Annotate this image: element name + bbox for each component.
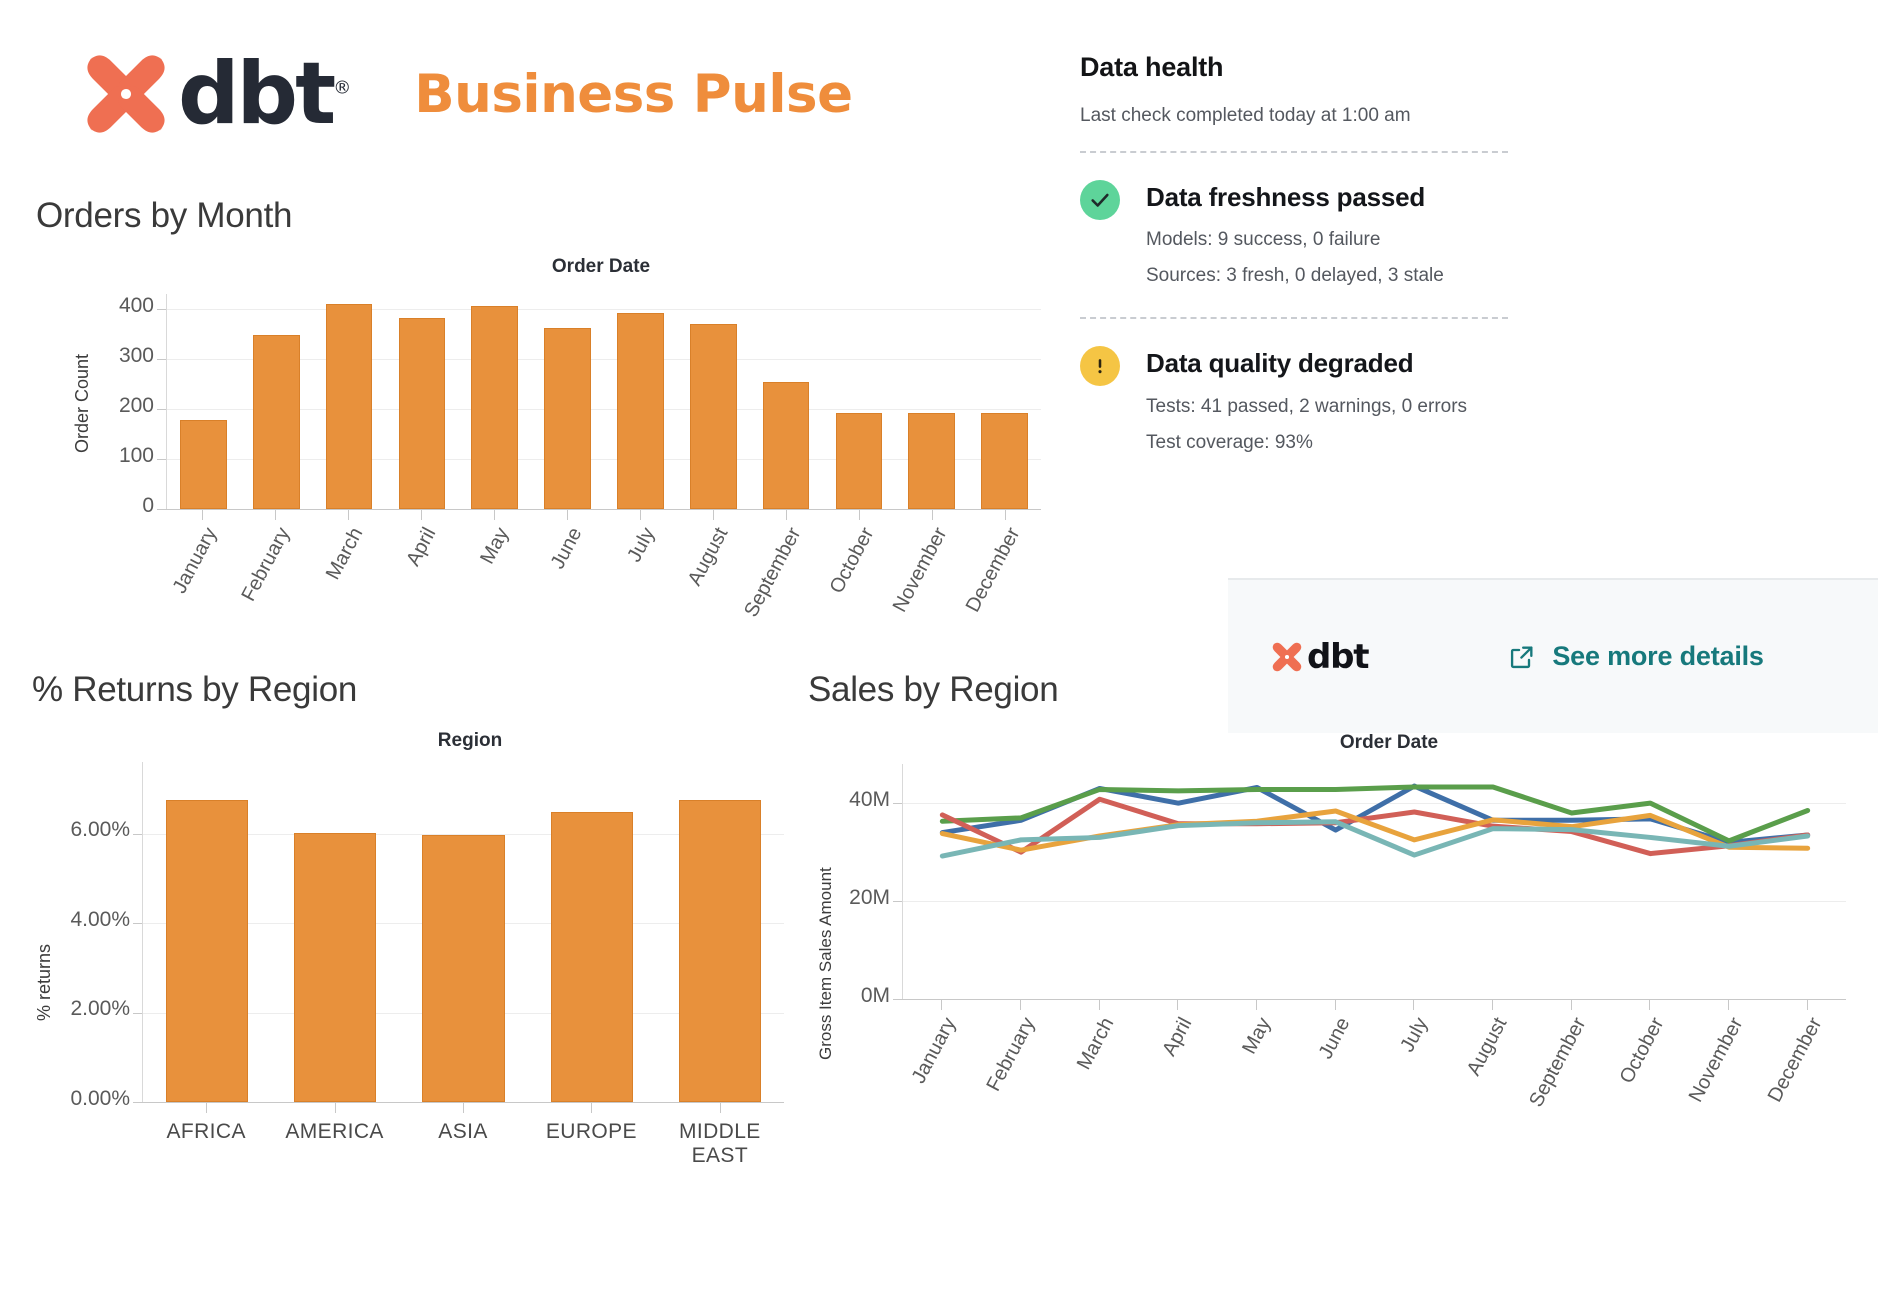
- bar[interactable]: [166, 800, 248, 1102]
- x-tick: December: [968, 510, 1041, 640]
- x-tick: April: [385, 510, 458, 640]
- x-tick-mark: [1256, 1000, 1257, 1010]
- dbt-logo-small: dbt: [1270, 637, 1368, 677]
- data-health-title: Data health: [1080, 52, 1860, 83]
- x-tick-label: March: [1073, 1014, 1119, 1074]
- x-tick-mark: [932, 510, 933, 520]
- bar[interactable]: [326, 304, 373, 509]
- health-detail-line: Sources: 3 fresh, 0 delayed, 3 stale: [1146, 265, 1860, 287]
- bar-slot: [385, 294, 458, 509]
- x-tick-label: February: [238, 524, 296, 605]
- bar-slot: [143, 762, 271, 1102]
- bar[interactable]: [679, 800, 761, 1102]
- x-tick: March: [312, 510, 385, 640]
- bar[interactable]: [981, 413, 1028, 510]
- y-tick-label: 400: [86, 294, 154, 318]
- x-tick-mark: [421, 510, 422, 520]
- see-more-details-label: See more details: [1552, 641, 1763, 672]
- x-tick-mark: [275, 510, 276, 520]
- x-tick-label: September: [1525, 1014, 1591, 1111]
- y-tick-label: 40M: [830, 788, 890, 812]
- x-tick-mark: [859, 510, 860, 520]
- bar-slot: [531, 294, 604, 509]
- x-tick-mark: [1649, 1000, 1650, 1010]
- x-tick-mark: [720, 1103, 721, 1113]
- sales-by-region-panel: Sales by Region Order Date Gross Item Sa…: [800, 660, 1878, 1312]
- x-tick-mark: [1020, 1000, 1021, 1010]
- x-tick: June: [531, 510, 604, 640]
- bar-slot: [604, 294, 677, 509]
- x-tick-mark: [494, 510, 495, 520]
- y-tick-mark: [133, 1013, 142, 1014]
- x-tick-label: November: [1685, 1014, 1749, 1106]
- x-tick-label: December: [961, 524, 1025, 616]
- bar-slot: [240, 294, 313, 509]
- returns-chart-header: Region: [140, 730, 800, 752]
- x-tick-label: March: [322, 524, 368, 584]
- bar[interactable]: [836, 413, 883, 510]
- bar-slot: [822, 294, 895, 509]
- y-tick-label: 20M: [830, 886, 890, 910]
- bar-slot: [167, 294, 240, 509]
- dbt-wordmark: dbt®: [178, 51, 348, 137]
- orders-panel-title: Orders by Month: [36, 196, 292, 236]
- y-tick-label: 2.00%: [38, 997, 130, 1021]
- bar-slot: [528, 762, 656, 1102]
- line-series-america[interactable]: [942, 787, 1807, 841]
- y-tick-mark: [157, 459, 166, 460]
- sales-plot-area: [902, 764, 1846, 999]
- x-tick-label: July: [623, 524, 660, 566]
- x-tick-label: MIDDLE EAST: [656, 1120, 784, 1168]
- see-more-details-link[interactable]: See more details: [1508, 641, 1763, 672]
- bar[interactable]: [180, 420, 227, 509]
- y-tick-mark: [157, 409, 166, 410]
- x-tick-label: November: [888, 524, 952, 616]
- y-tick-mark: [893, 803, 902, 804]
- x-tick-mark: [202, 510, 203, 520]
- x-tick: August: [1453, 1000, 1532, 1130]
- x-tick-label: May: [476, 524, 514, 568]
- y-tick-label: 4.00%: [38, 908, 130, 932]
- sales-chart-header: Order Date: [900, 732, 1878, 754]
- x-tick-label: September: [740, 524, 806, 621]
- bar-slot: [656, 762, 784, 1102]
- bar-slot: [750, 294, 823, 509]
- x-tick: September: [749, 510, 822, 640]
- health-item-freshness: Data freshness passed Models: 9 success,…: [1080, 179, 1860, 287]
- returns-x-tickmarks: [142, 1103, 784, 1115]
- bar[interactable]: [422, 835, 504, 1102]
- x-tick-mark: [1728, 1000, 1729, 1010]
- x-tick: April: [1138, 1000, 1217, 1130]
- divider: [1080, 151, 1508, 153]
- data-health-subtitle: Last check completed today at 1:00 am: [1080, 105, 1860, 127]
- dbt-logo: dbt®: [80, 48, 348, 140]
- bar[interactable]: [551, 812, 633, 1102]
- x-tick: July: [604, 510, 677, 640]
- page-header: dbt® Business Pulse: [80, 38, 1060, 150]
- orders-x-tick-labels: JanuaryFebruaryMarchAprilMayJuneJulyAugu…: [166, 510, 1041, 640]
- returns-bar-group: [143, 762, 784, 1102]
- x-tick: [142, 1103, 270, 1115]
- dbt-logo-icon: [1270, 640, 1304, 674]
- x-tick-mark: [206, 1103, 207, 1113]
- y-tick-label: 0.00%: [38, 1087, 130, 1111]
- health-detail-line: Models: 9 success, 0 failure: [1146, 229, 1860, 251]
- y-tick-label: 300: [86, 344, 154, 368]
- x-tick: June: [1295, 1000, 1374, 1130]
- x-tick-mark: [1099, 1000, 1100, 1010]
- dbt-wordmark-small: dbt: [1307, 637, 1368, 677]
- warning-circle-icon: [1080, 346, 1120, 386]
- x-tick-label: EUROPE: [527, 1120, 655, 1168]
- x-tick-label: June: [1314, 1014, 1355, 1063]
- x-tick-label: ASIA: [399, 1120, 527, 1168]
- x-tick-label: April: [402, 524, 441, 570]
- x-tick: February: [239, 510, 312, 640]
- returns-by-region-panel: % Returns by Region Region % returns 0.0…: [20, 662, 820, 1302]
- x-tick-mark: [941, 1000, 942, 1010]
- bar[interactable]: [617, 313, 664, 509]
- x-tick-label: January: [169, 524, 223, 598]
- x-tick-label: October: [825, 524, 879, 598]
- bar[interactable]: [908, 413, 955, 510]
- bar-slot: [399, 762, 527, 1102]
- registered-mark: ®: [333, 77, 348, 98]
- bar[interactable]: [471, 306, 518, 510]
- orders-plot-area: [166, 294, 1041, 509]
- y-tick-mark: [157, 309, 166, 310]
- x-tick-label: AFRICA: [142, 1120, 270, 1168]
- x-tick-mark: [713, 510, 714, 520]
- x-tick: October: [822, 510, 895, 640]
- health-detail-line: Tests: 41 passed, 2 warnings, 0 errors: [1146, 396, 1860, 418]
- x-tick-mark: [335, 1103, 336, 1113]
- x-tick: May: [458, 510, 531, 640]
- health-detail-line: Test coverage: 93%: [1146, 432, 1860, 454]
- bar[interactable]: [763, 382, 810, 509]
- x-tick-label: April: [1159, 1014, 1198, 1060]
- x-tick: November: [895, 510, 968, 640]
- returns-panel-title: % Returns by Region: [32, 670, 357, 710]
- x-tick-label: January: [908, 1014, 962, 1088]
- y-tick-label: 0: [86, 494, 154, 518]
- health-heading: Data quality degraded: [1146, 345, 1860, 381]
- returns-chart: % returns 0.00%2.00%4.00%6.00% AFRICAAME…: [20, 762, 820, 1242]
- x-tick-mark: [1807, 1000, 1808, 1010]
- y-tick-mark: [133, 834, 142, 835]
- returns-y-axis-title: % returns: [34, 912, 55, 1052]
- see-more-details-card: dbt See more details: [1228, 578, 1878, 733]
- x-tick-mark: [640, 510, 641, 520]
- x-tick-label: May: [1238, 1014, 1276, 1058]
- x-tick-label: February: [982, 1014, 1040, 1095]
- data-health-panel: Data health Last check completed today a…: [1080, 52, 1860, 472]
- orders-bar-group: [167, 294, 1041, 509]
- x-tick: July: [1374, 1000, 1453, 1130]
- x-tick-mark: [1492, 1000, 1493, 1010]
- dbt-logo-icon: [80, 48, 172, 140]
- y-tick-mark: [157, 359, 166, 360]
- y-tick-mark: [157, 509, 166, 510]
- x-tick: May: [1217, 1000, 1296, 1130]
- health-item-quality: Data quality degraded Tests: 41 passed, …: [1080, 345, 1860, 453]
- x-tick-mark: [1005, 510, 1006, 520]
- bar-slot: [271, 762, 399, 1102]
- x-tick-mark: [1335, 1000, 1336, 1010]
- x-tick-label: July: [1397, 1014, 1434, 1056]
- x-tick-mark: [1177, 1000, 1178, 1010]
- check-circle-icon: [1080, 180, 1120, 220]
- x-tick-label: August: [684, 524, 734, 590]
- x-tick: December: [1767, 1000, 1846, 1130]
- page-title: Business Pulse: [414, 64, 852, 125]
- bar-slot: [313, 294, 386, 509]
- health-heading: Data freshness passed: [1146, 179, 1860, 215]
- bar[interactable]: [253, 335, 300, 509]
- x-tick: January: [902, 1000, 981, 1130]
- y-tick-mark: [133, 923, 142, 924]
- x-tick-mark: [786, 510, 787, 520]
- bar[interactable]: [544, 328, 591, 509]
- bar-slot: [677, 294, 750, 509]
- x-tick-mark: [463, 1103, 464, 1113]
- x-tick: [270, 1103, 398, 1115]
- sales-chart: Gross Item Sales Amount 0M20M40M January…: [800, 764, 1878, 1264]
- x-tick: September: [1531, 1000, 1610, 1130]
- y-tick-mark: [893, 999, 902, 1000]
- y-tick-mark: [893, 901, 902, 902]
- x-tick-mark: [348, 510, 349, 520]
- bar-slot: [895, 294, 968, 509]
- x-tick: October: [1610, 1000, 1689, 1130]
- x-tick-label: June: [547, 524, 588, 573]
- bar[interactable]: [399, 318, 446, 509]
- sales-x-tick-labels: JanuaryFebruaryMarchAprilMayJuneJulyAugu…: [902, 1000, 1846, 1130]
- x-tick: February: [981, 1000, 1060, 1130]
- x-tick: November: [1689, 1000, 1768, 1130]
- x-tick: January: [166, 510, 239, 640]
- bar-slot: [458, 294, 531, 509]
- external-link-icon: [1508, 643, 1536, 671]
- x-tick-mark: [567, 510, 568, 520]
- x-tick: [399, 1103, 527, 1115]
- y-tick-label: 6.00%: [38, 818, 130, 842]
- returns-x-tick-labels: AFRICAAMERICAASIAEUROPEMIDDLE EAST: [142, 1120, 784, 1168]
- bar[interactable]: [294, 833, 376, 1102]
- x-tick: [527, 1103, 655, 1115]
- x-tick: March: [1059, 1000, 1138, 1130]
- x-tick-mark: [1413, 1000, 1414, 1010]
- orders-by-month-panel: Orders by Month Order Date Order Count 0…: [36, 196, 1036, 656]
- x-tick-label: October: [1616, 1014, 1670, 1088]
- y-tick-mark: [133, 1102, 142, 1103]
- y-tick-label: 100: [86, 444, 154, 468]
- sales-panel-title: Sales by Region: [808, 670, 1058, 710]
- bar-slot: [968, 294, 1041, 509]
- x-tick-label: August: [1463, 1014, 1513, 1080]
- divider: [1080, 317, 1508, 319]
- x-tick-label: December: [1763, 1014, 1827, 1106]
- orders-chart: Order Count 0100200300400 JanuaryFebruar…: [66, 284, 1041, 514]
- y-tick-label: 0M: [830, 984, 890, 1008]
- orders-chart-header: Order Date: [156, 256, 1046, 278]
- sales-line-series: [903, 764, 1847, 999]
- x-tick: August: [676, 510, 749, 640]
- x-tick-label: AMERICA: [270, 1120, 398, 1168]
- x-tick-mark: [1571, 1000, 1572, 1010]
- x-tick-mark: [591, 1103, 592, 1113]
- returns-plot-area: [142, 762, 784, 1102]
- x-tick: [656, 1103, 784, 1115]
- y-tick-label: 200: [86, 394, 154, 418]
- bar[interactable]: [690, 324, 737, 510]
